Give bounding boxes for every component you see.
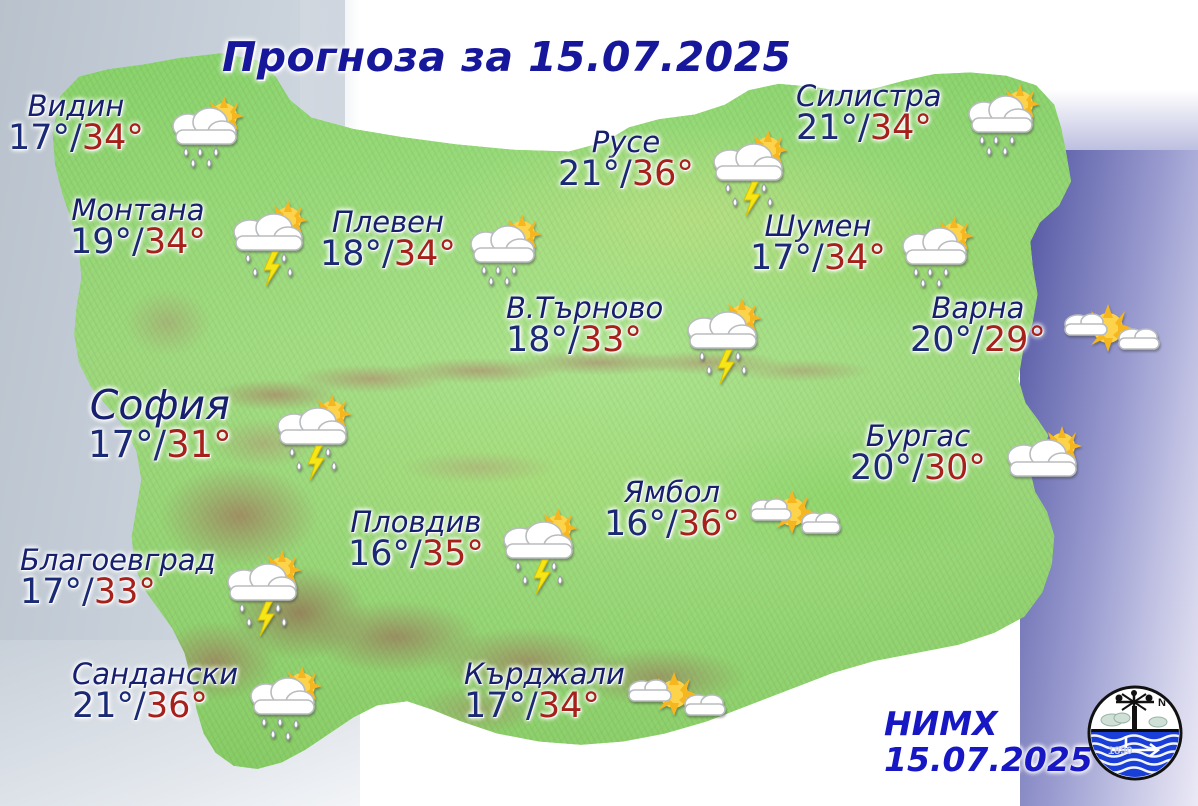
agency-footer: НИМХ 15.07.2025 bbox=[884, 706, 1093, 777]
partly-cloudy-icon bbox=[620, 664, 728, 730]
temp-min: 19° bbox=[70, 222, 132, 262]
city-label-sandanski[interactable]: Сандански 21°/36° bbox=[72, 660, 238, 724]
city-temps: 18°/34° bbox=[320, 234, 456, 274]
partly-cloudy-icon bbox=[1056, 296, 1162, 364]
city-name: Пловдив bbox=[348, 508, 484, 537]
temp-separator: / bbox=[134, 686, 146, 726]
temp-separator: / bbox=[132, 222, 144, 262]
city-label-yambol[interactable]: Ямбол 16°/36° bbox=[604, 478, 740, 542]
city-temps: 21°/36° bbox=[72, 686, 208, 726]
temp-min: 17° bbox=[88, 423, 154, 466]
sun-cloud-rain-icon bbox=[160, 92, 252, 172]
sun-cloud-thunderstorm-icon bbox=[266, 392, 362, 484]
partly-cloudy-icon bbox=[742, 482, 842, 546]
weather-map-page: Прогноза за 15.07.2025 Видин 17°/34° bbox=[0, 0, 1198, 806]
temp-min: 16° bbox=[604, 504, 666, 544]
city-temps: 21°/36° bbox=[558, 154, 694, 194]
city-label-plovdiv[interactable]: Пловдив 16°/35° bbox=[348, 508, 484, 572]
temp-min: 20° bbox=[850, 448, 912, 488]
temp-min: 17° bbox=[750, 238, 812, 278]
temp-min: 17° bbox=[464, 686, 526, 726]
temp-separator: / bbox=[972, 320, 984, 360]
city-temps: 17°/33° bbox=[20, 572, 156, 612]
temp-min: 16° bbox=[348, 534, 410, 574]
temp-min: 20° bbox=[910, 320, 972, 360]
city-temps: 17°/34° bbox=[8, 118, 144, 158]
temp-max: 34° bbox=[144, 222, 206, 262]
temp-min: 17° bbox=[20, 572, 82, 612]
city-temps: 21°/34° bbox=[796, 108, 932, 148]
city-name: София bbox=[88, 385, 232, 426]
city-temps: 17°/34° bbox=[464, 686, 600, 726]
city-label-blagoevgrad[interactable]: Благоевград 17°/33° bbox=[20, 546, 216, 610]
temp-min: 17° bbox=[8, 118, 70, 158]
city-name: Русе bbox=[558, 128, 694, 157]
temp-separator: / bbox=[410, 534, 422, 574]
temp-max: 30° bbox=[924, 448, 986, 488]
temp-max: 34° bbox=[538, 686, 600, 726]
temp-separator: / bbox=[70, 118, 82, 158]
city-temps: 18°/33° bbox=[506, 320, 642, 360]
city-name: Бургас bbox=[850, 422, 986, 451]
city-label-varna[interactable]: Варна 20°/29° bbox=[910, 294, 1046, 358]
city-label-vidin[interactable]: Видин 17°/34° bbox=[8, 92, 144, 156]
temp-min: 21° bbox=[796, 108, 858, 148]
temp-max: 36° bbox=[678, 504, 740, 544]
city-label-silistra[interactable]: Силистра 21°/34° bbox=[796, 82, 942, 146]
page-title: Прогноза за 15.07.2025 bbox=[222, 33, 791, 81]
temp-separator: / bbox=[620, 154, 632, 194]
city-name: Благоевград bbox=[20, 546, 216, 575]
temp-min: 18° bbox=[506, 320, 568, 360]
temp-min: 21° bbox=[72, 686, 134, 726]
temp-max: 33° bbox=[580, 320, 642, 360]
temp-max: 29° bbox=[984, 320, 1046, 360]
city-label-sofia[interactable]: София 17°/31° bbox=[88, 385, 232, 463]
city-name: Монтана bbox=[70, 196, 206, 225]
temp-separator: / bbox=[382, 234, 394, 274]
city-temps: 17°/34° bbox=[750, 238, 886, 278]
city-name: Ямбол bbox=[604, 478, 740, 507]
city-label-veliko-tarnovo[interactable]: В.Търново 18°/33° bbox=[506, 294, 663, 358]
city-label-montana[interactable]: Монтана 19°/34° bbox=[70, 196, 206, 260]
city-name: Плевен bbox=[320, 208, 456, 237]
city-label-shumen[interactable]: Шумен 17°/34° bbox=[750, 212, 886, 276]
city-temps: 19°/34° bbox=[70, 222, 206, 262]
city-temps: 17°/31° bbox=[88, 423, 232, 466]
temp-separator: / bbox=[526, 686, 538, 726]
temp-separator: / bbox=[568, 320, 580, 360]
temp-separator: / bbox=[82, 572, 94, 612]
sun-cloud-rain-icon bbox=[956, 80, 1048, 160]
temp-max: 34° bbox=[870, 108, 932, 148]
city-name: Кърджали bbox=[464, 660, 625, 689]
city-label-burgas[interactable]: Бургас 20°/30° bbox=[850, 422, 986, 486]
logo-year-label: 1890 bbox=[1108, 745, 1132, 757]
temp-max: 34° bbox=[824, 238, 886, 278]
sun-cloud-thunderstorm-icon bbox=[702, 128, 798, 220]
city-temps: 20°/29° bbox=[910, 320, 1046, 360]
temp-min: 18° bbox=[320, 234, 382, 274]
city-name: Варна bbox=[910, 294, 1046, 323]
temp-max: 33° bbox=[94, 572, 156, 612]
city-temps: 20°/30° bbox=[850, 448, 986, 488]
temp-separator: / bbox=[812, 238, 824, 278]
temp-separator: / bbox=[666, 504, 678, 544]
city-label-kardzhali[interactable]: Кърджали 17°/34° bbox=[464, 660, 625, 724]
agency-name: НИМХ bbox=[884, 706, 1093, 742]
city-name: Сандански bbox=[72, 660, 238, 689]
sun-cloud-rain-icon bbox=[890, 212, 982, 292]
temp-separator: / bbox=[858, 108, 870, 148]
temp-max: 36° bbox=[632, 154, 694, 194]
temp-max: 34° bbox=[82, 118, 144, 158]
sun-cloud-rain-icon bbox=[238, 662, 330, 742]
city-temps: 16°/35° bbox=[348, 534, 484, 574]
sun-cloud-thunderstorm-icon bbox=[492, 506, 588, 598]
sun-cloud-thunderstorm-icon bbox=[222, 198, 318, 290]
nimh-logo: N 1890 bbox=[1086, 684, 1184, 782]
temp-max: 34° bbox=[394, 234, 456, 274]
city-label-ruse[interactable]: Русе 21°/36° bbox=[558, 128, 694, 192]
city-temps: 16°/36° bbox=[604, 504, 740, 544]
city-name: Силистра bbox=[796, 82, 942, 111]
temp-max: 31° bbox=[166, 423, 232, 466]
temp-separator: / bbox=[912, 448, 924, 488]
city-name: В.Търново bbox=[506, 294, 663, 323]
temp-separator: / bbox=[154, 423, 166, 466]
city-name: Шумен bbox=[750, 212, 886, 241]
sun-cloud-thunderstorm-icon bbox=[216, 548, 312, 640]
temp-max: 36° bbox=[146, 686, 208, 726]
city-name: Видин bbox=[8, 92, 144, 121]
agency-date: 15.07.2025 bbox=[884, 742, 1093, 778]
sun-cloud-icon bbox=[996, 424, 1092, 486]
sun-cloud-rain-icon bbox=[458, 210, 550, 290]
temp-min: 21° bbox=[558, 154, 620, 194]
sun-cloud-thunderstorm-icon bbox=[676, 296, 772, 388]
city-label-pleven[interactable]: Плевен 18°/34° bbox=[320, 208, 456, 272]
temp-max: 35° bbox=[422, 534, 484, 574]
